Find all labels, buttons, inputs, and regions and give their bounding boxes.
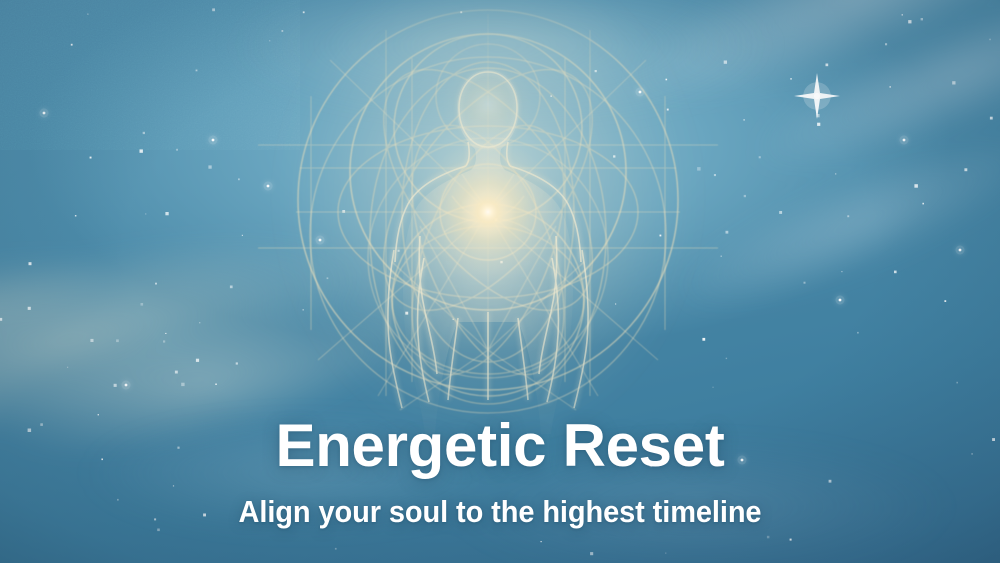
caption-block: Energetic Reset Align your soul to the h…: [0, 416, 1000, 527]
page-title: Energetic Reset: [0, 416, 1000, 476]
title-card-canvas: Energetic Reset Align your soul to the h…: [0, 0, 1000, 563]
film-grain-overlay: [0, 0, 300, 150]
page-subtitle: Align your soul to the highest timeline: [33, 496, 968, 527]
